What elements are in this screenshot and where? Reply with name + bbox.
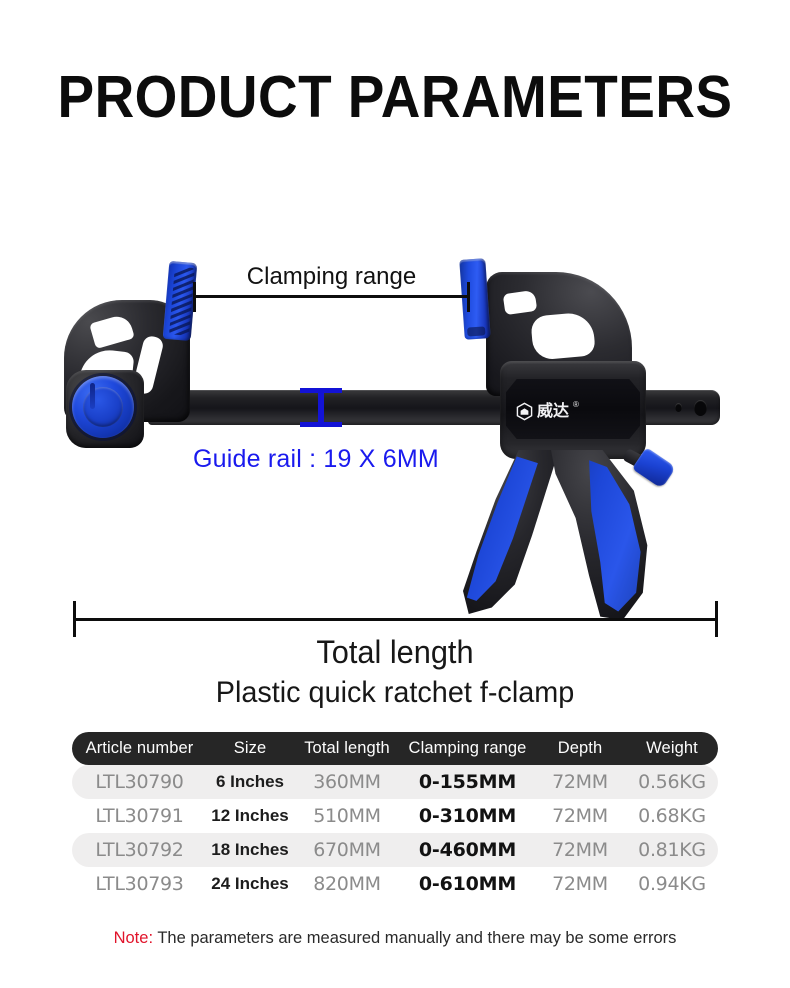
dimension-tick-left <box>73 601 76 637</box>
sliding-jaw-cutout-1 <box>503 290 538 315</box>
cell-depth: 72MM <box>534 873 626 895</box>
product-name: Plastic quick ratchet f-clamp <box>16 676 774 710</box>
brand-logo-text: 威达 <box>537 403 569 419</box>
cell-depth: 72MM <box>534 839 626 861</box>
trigger-handle[interactable] <box>463 450 559 614</box>
dimension-tick-right <box>715 601 718 637</box>
cell-weight: 0.68KG <box>626 805 718 827</box>
cell-article-number: LTL30791 <box>72 805 207 827</box>
cell-article-number: LTL30790 <box>72 771 207 793</box>
note-body: The parameters are measured manually and… <box>153 929 676 947</box>
hexagon-logo-icon <box>516 402 533 421</box>
clamping-range-label: Clamping range <box>193 263 470 291</box>
dimension-line <box>73 618 718 621</box>
table-row: LTL30793 24 Inches 820MM 0-610MM 72MM 0.… <box>72 867 718 901</box>
cell-total-length: 360MM <box>293 771 401 793</box>
table-body: LTL30790 6 Inches 360MM 0-155MM 72MM 0.5… <box>72 765 718 901</box>
registered-symbol: ® <box>573 401 579 409</box>
cell-article-number: LTL30793 <box>72 873 207 895</box>
cell-depth: 72MM <box>534 771 626 793</box>
cell-weight: 0.94KG <box>626 873 718 895</box>
end-knob[interactable] <box>72 376 134 438</box>
dimension-line <box>193 295 470 298</box>
cell-size: 24 Inches <box>207 874 293 894</box>
rail-hole-large <box>694 400 707 416</box>
table-row: LTL30790 6 Inches 360MM 0-155MM 72MM 0.5… <box>72 765 718 799</box>
cell-weight: 0.56KG <box>626 771 718 793</box>
rail-dimension-marker-icon <box>300 388 342 427</box>
cell-size: 18 Inches <box>207 840 293 860</box>
column-header-total-length: Total length <box>293 739 401 758</box>
handle-assembly <box>455 450 675 620</box>
table-row: LTL30791 12 Inches 510MM 0-310MM 72MM 0.… <box>72 799 718 833</box>
cell-weight: 0.81KG <box>626 839 718 861</box>
column-header-weight: Weight <box>626 739 718 758</box>
cell-clamping-range: 0-610MM <box>401 873 534 895</box>
total-length-dimension <box>73 618 718 619</box>
product-illustration: 威达 ® Clamping range Guide rail : 19 X 6M… <box>0 0 790 720</box>
table-row: LTL30792 18 Inches 670MM 0-460MM 72MM 0.… <box>72 833 718 867</box>
cell-clamping-range: 0-310MM <box>401 805 534 827</box>
cell-article-number: LTL30792 <box>72 839 207 861</box>
cell-clamping-range: 0-460MM <box>401 839 534 861</box>
clamping-range-dimension <box>193 295 470 296</box>
cell-total-length: 670MM <box>293 839 401 861</box>
note-keyword: Note: <box>114 929 153 947</box>
guide-rail-label: Guide rail : 19 X 6MM <box>193 445 439 474</box>
cell-depth: 72MM <box>534 805 626 827</box>
column-header-depth: Depth <box>534 739 626 758</box>
marker-bottom-bar <box>300 422 342 427</box>
sliding-jaw-pad-tip <box>467 326 486 336</box>
cell-total-length: 820MM <box>293 873 401 895</box>
column-header-clamping-range: Clamping range <box>401 739 534 758</box>
brand-logo: 威达 ® <box>516 400 628 422</box>
spec-table: Article number Size Total length Clampin… <box>72 732 718 901</box>
cell-size: 6 Inches <box>207 772 293 792</box>
end-knob-inner <box>83 387 123 427</box>
dimension-tick-right <box>467 282 470 312</box>
end-knob-slot <box>90 383 95 409</box>
cell-size: 12 Inches <box>207 806 293 826</box>
column-header-article-number: Article number <box>72 739 207 758</box>
dimension-tick-left <box>193 282 196 312</box>
table-header-row: Article number Size Total length Clampin… <box>72 732 718 765</box>
cell-clamping-range: 0-155MM <box>401 771 534 793</box>
total-length-label: Total length <box>16 634 774 671</box>
note-text: Note: The parameters are measured manual… <box>0 929 790 948</box>
rail-hole-small <box>675 403 682 412</box>
grip-handle[interactable] <box>551 450 663 620</box>
cell-total-length: 510MM <box>293 805 401 827</box>
product-parameters-page: PRODUCT PARAMETERS <box>0 0 790 988</box>
column-header-size: Size <box>207 739 293 758</box>
